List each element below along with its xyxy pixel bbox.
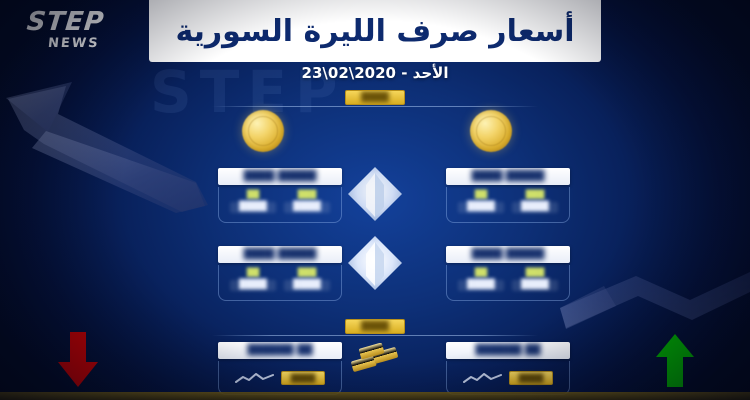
logo-primary-text: STEP (26, 9, 106, 35)
rate-cell-value: ████ (230, 280, 276, 291)
rate-cell-value: ████ (512, 280, 558, 291)
page-title: أسعار صرف الليرة السورية (175, 14, 574, 49)
rate-cell-header: ███ (284, 190, 330, 199)
rate-cell: ██ ████ (230, 190, 276, 213)
rate-card-body: ██ ████ ███ ████ (218, 265, 342, 301)
logo-secondary-text: NEWS (48, 37, 101, 50)
rate-card-label-text: █████ ████ (446, 168, 570, 185)
rate-cell-header: ███ (284, 268, 330, 277)
infographic-canvas: STEP STEP NEWS أسعار صرف الليرة السورية … (0, 0, 750, 400)
gold-rate-chip: ████ (281, 371, 325, 385)
rate-card-label: █████ ████ (218, 168, 342, 185)
gold-rate-card-label: ██ ██████ (446, 342, 570, 359)
rate-cell: ███ ████ (284, 190, 330, 213)
rate-section-1: ████ █████ ████ (0, 88, 750, 218)
rate-card-label: █████ ████ (446, 168, 570, 185)
rate-cell-header: ██ (230, 190, 276, 199)
arrow-up-icon (655, 334, 695, 388)
gold-rate-card-label-text: ██ ██████ (446, 342, 570, 359)
section-badge-label: ████ (346, 320, 404, 334)
rate-card[interactable]: █████ ████ ██ ████ ███ ████ (218, 246, 342, 301)
rate-cell-header: ███ (512, 190, 558, 199)
rate-card[interactable]: █████ ████ ██ ████ ███ ████ (446, 168, 570, 223)
sparkline-icon (235, 371, 275, 385)
rate-cell-value: ████ (458, 202, 504, 213)
rate-card-body: ██ ████ ███ ████ (446, 187, 570, 223)
sparkline-icon (463, 371, 503, 385)
rate-cell-value: ████ (512, 202, 558, 213)
gold-rate-card-label: ██ ██████ (218, 342, 342, 359)
section-divider (212, 335, 538, 336)
rate-cell-value: ████ (284, 280, 330, 291)
rate-card-label-text: █████ ████ (446, 246, 570, 263)
rate-cell: ██ ████ (458, 190, 504, 213)
section-badge: ████ (345, 319, 405, 334)
rate-cell: ███ ████ (512, 268, 558, 291)
gold-bars-icon (344, 343, 406, 389)
diamond-emblem-icon (344, 232, 406, 294)
gold-rate-chip-value: ████ (282, 372, 324, 386)
rate-section-2: █████ ████ ██ ████ ███ ████ █████ ████ █… (0, 232, 750, 312)
gold-rate-card-label-text: ██ ██████ (218, 342, 342, 359)
rate-cell-header: ██ (230, 268, 276, 277)
bottom-accent-bar (0, 392, 750, 400)
rate-cell: ██ ████ (230, 268, 276, 291)
coin-icon (242, 110, 284, 152)
rate-cell-header: ██ (458, 190, 504, 199)
arrow-down-icon (57, 332, 99, 388)
rate-cell-value: ████ (284, 202, 330, 213)
rate-card-label-text: █████ ████ (218, 246, 342, 263)
section-badge-label: ████ (346, 91, 404, 105)
rate-cell-value: ████ (230, 202, 276, 213)
rate-card[interactable]: █████ ████ ██ ████ ███ ████ (446, 246, 570, 301)
date-label: الأحد - 2020\02\23 (0, 64, 750, 82)
step-news-logo[interactable]: STEP NEWS (14, 6, 118, 52)
gold-rate-card[interactable]: ██ ██████ ████ (218, 342, 342, 395)
rate-cell-header: ██ (458, 268, 504, 277)
rate-cell: ███ ████ (512, 190, 558, 213)
rate-card[interactable]: █████ ████ ██ ████ ███ ████ (218, 168, 342, 223)
gold-rate-card-body: ████ (218, 361, 342, 395)
gold-rate-card[interactable]: ██ ██████ ████ (446, 342, 570, 395)
title-plate: أسعار صرف الليرة السورية (149, 0, 601, 62)
rate-card-label: █████ ████ (446, 246, 570, 263)
gold-rate-card-body: ████ (446, 361, 570, 395)
rate-cell: ███ ████ (284, 268, 330, 291)
section-divider (212, 106, 538, 107)
gold-rate-chip: ████ (509, 371, 553, 385)
rate-cell-header: ███ (512, 268, 558, 277)
rate-section-3: ████ ██ ██████ (0, 315, 750, 400)
coin-icon (470, 110, 512, 152)
rate-card-label-text: █████ ████ (218, 168, 342, 185)
rate-cell-value: ████ (458, 280, 504, 291)
diamond-emblem-icon (344, 163, 406, 225)
rate-card-label: █████ ████ (218, 246, 342, 263)
rate-card-body: ██ ████ ███ ████ (446, 265, 570, 301)
rate-card-body: ██ ████ ███ ████ (218, 187, 342, 223)
rate-cell: ██ ████ (458, 268, 504, 291)
section-badge: ████ (345, 90, 405, 105)
gold-rate-chip-value: ████ (510, 372, 552, 386)
